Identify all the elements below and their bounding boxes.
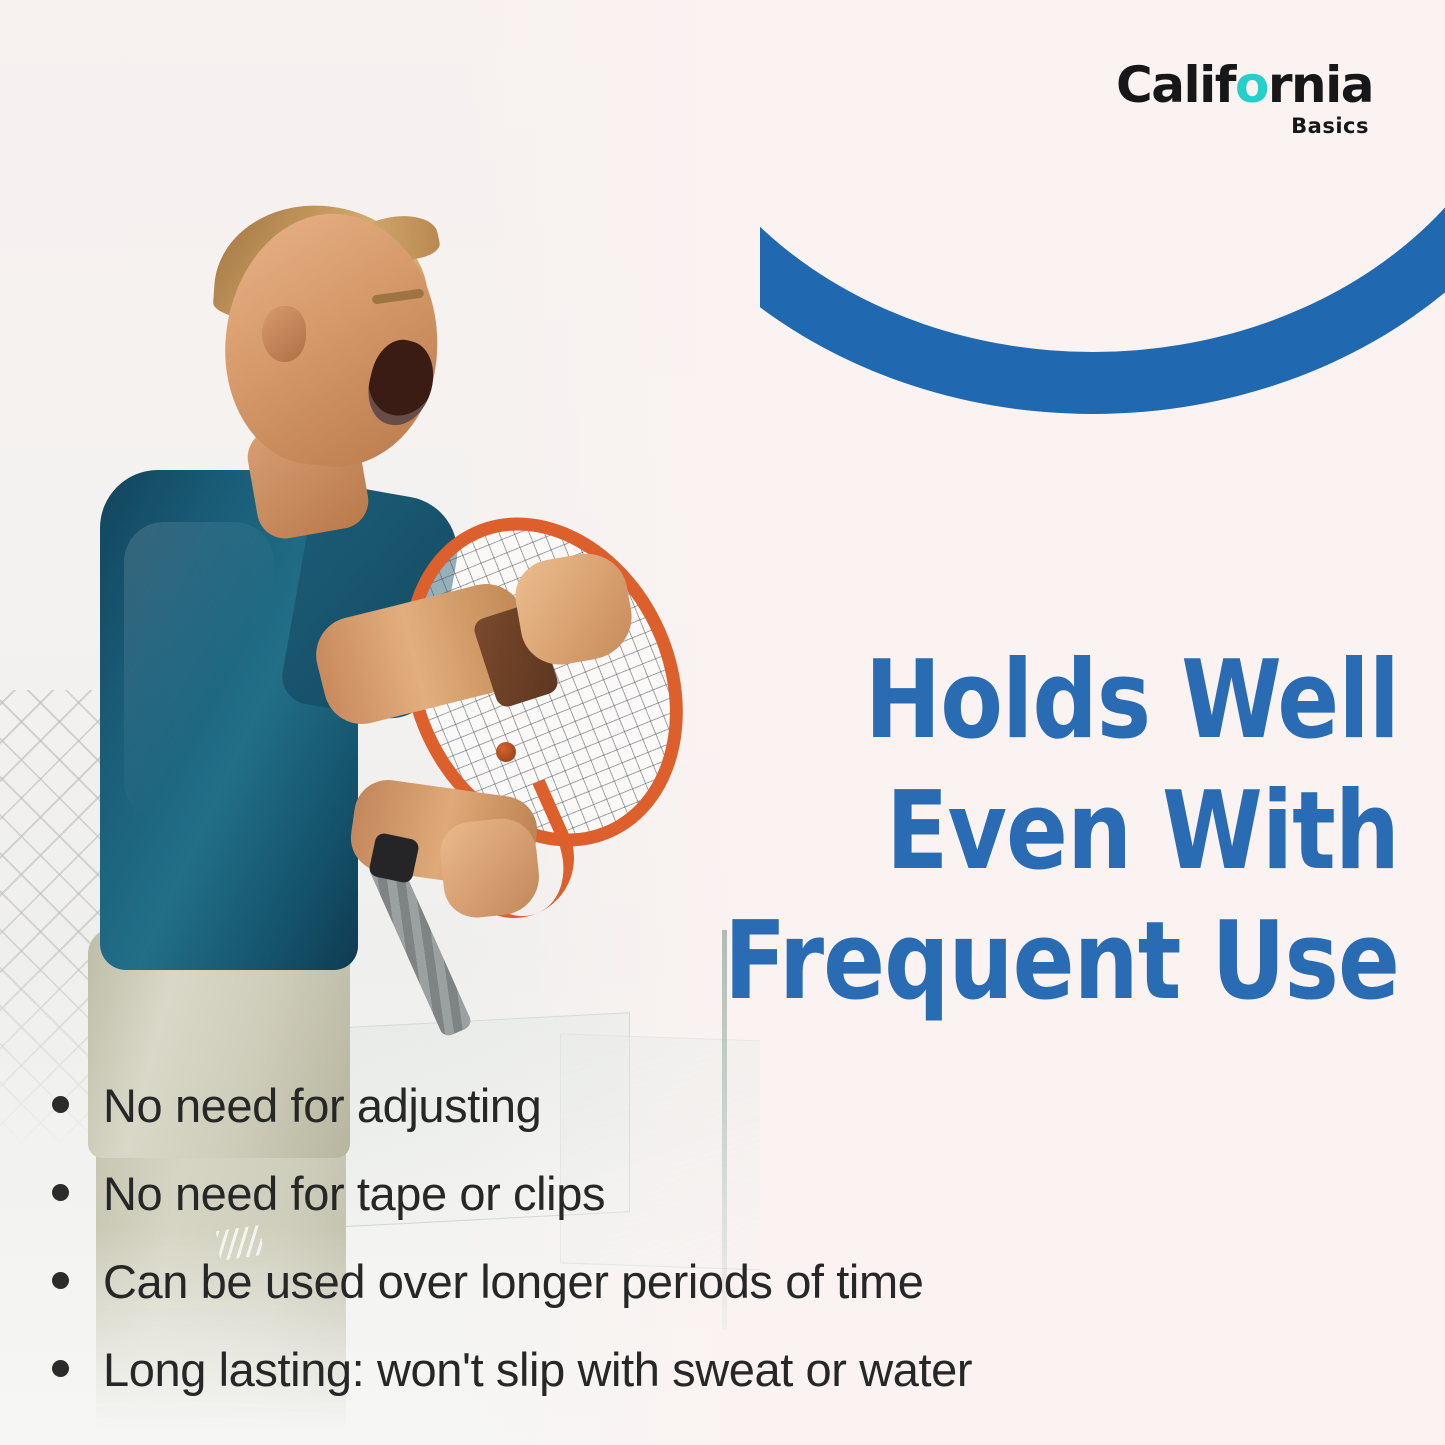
list-item-label: Long lasting: won't slip with sweat or w… xyxy=(103,1346,972,1393)
brand-subtitle: Basics xyxy=(1116,116,1369,137)
list-item: No need for adjusting xyxy=(52,1082,1392,1170)
bullet-dot-icon xyxy=(52,1184,69,1201)
promo-image-canvas: California Basics Holds Well Even With F… xyxy=(0,0,1445,1445)
brand-name-teal-o: o xyxy=(1235,56,1268,114)
feature-list: No need for adjusting No need for tape o… xyxy=(52,1082,1392,1434)
list-item: Can be used over longer periods of time xyxy=(52,1258,1392,1346)
wristwatch xyxy=(368,832,420,884)
tennis-ball xyxy=(496,742,516,762)
player-ear xyxy=(262,306,306,362)
brand-name-part2: rnia xyxy=(1268,56,1373,114)
list-item-label: No need for tape or clips xyxy=(103,1170,605,1217)
page-title: Holds Well Even With Frequent Use xyxy=(591,636,1399,1028)
headline-line-2: Even With xyxy=(591,767,1399,898)
bullet-dot-icon xyxy=(52,1096,69,1113)
list-item: No need for tape or clips xyxy=(52,1170,1392,1258)
bullet-dot-icon xyxy=(52,1272,69,1289)
list-item: Long lasting: won't slip with sweat or w… xyxy=(52,1346,1392,1434)
headline-line-1: Holds Well xyxy=(591,636,1399,767)
brand-name: California xyxy=(1116,60,1373,110)
bullet-dot-icon xyxy=(52,1360,69,1377)
brand-name-part1: Calif xyxy=(1116,56,1235,114)
list-item-label: No need for adjusting xyxy=(103,1082,541,1129)
headline-line-3: Frequent Use xyxy=(591,897,1399,1028)
list-item-label: Can be used over longer periods of time xyxy=(103,1258,923,1305)
brand-logo: California Basics xyxy=(1116,60,1373,137)
